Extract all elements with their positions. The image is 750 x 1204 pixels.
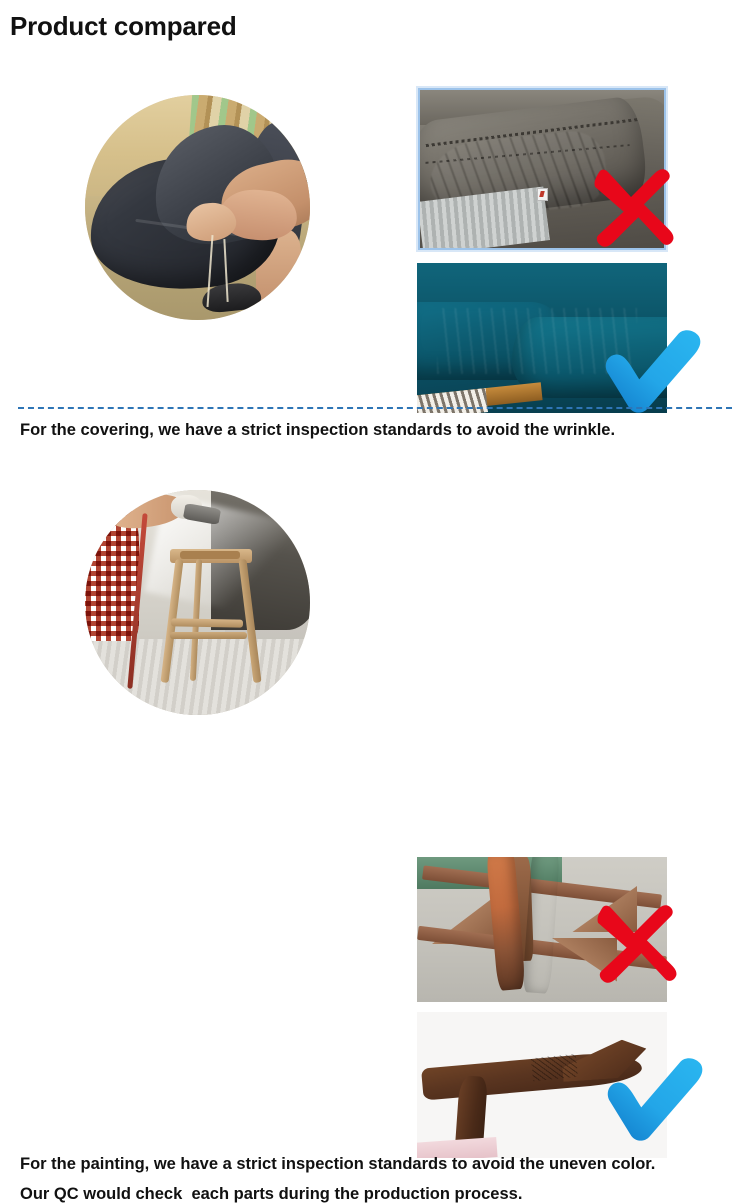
check-icon (600, 1056, 710, 1144)
upholstery-scene (85, 95, 310, 320)
upholstery-fitting-photo (85, 95, 310, 320)
check-icon (598, 328, 708, 416)
spray-painting-photo (85, 490, 310, 715)
stool-stretcher (170, 632, 247, 639)
brand-tag (537, 188, 548, 201)
page-title: Product compared (10, 11, 237, 42)
stool-footrest (171, 618, 243, 627)
caption-painting: For the painting, we have a strict inspe… (20, 1155, 655, 1174)
section-painting: For the painting, we have a strict inspe… (0, 420, 750, 750)
wood-grain-detail (531, 1054, 578, 1082)
spray-booth-scene (85, 490, 310, 715)
section-covering: For the covering, we have a strict inspe… (0, 40, 750, 390)
caption-qc-process: Our QC would check each parts during the… (20, 1185, 522, 1204)
cross-icon (588, 898, 680, 990)
wooden-bar-stool (166, 549, 256, 684)
cross-icon (585, 162, 677, 254)
stool-seat-opening (180, 551, 239, 559)
section-divider (18, 407, 732, 409)
